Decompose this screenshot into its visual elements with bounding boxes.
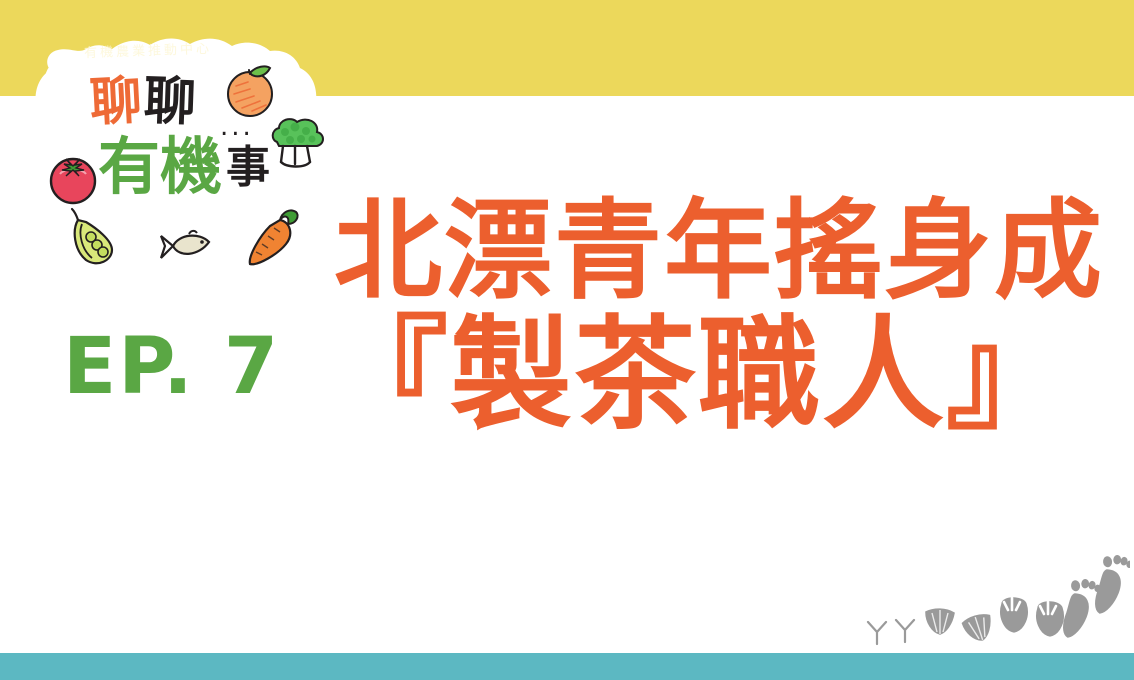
- orange-fruit-icon: [220, 58, 282, 120]
- webbed-foot-icon: [962, 612, 996, 644]
- podcast-logo: 有機農業推動中心 聊聊 ... 有機事: [20, 14, 330, 274]
- title-line-1: 北漂青年搖身成: [334, 196, 1104, 308]
- bird-track-icon: [896, 620, 914, 642]
- fish-icon: [155, 222, 217, 270]
- bird-track-icon: [868, 622, 886, 644]
- paw-print-icon: [1001, 598, 1028, 632]
- brand-char-liao-orange: 聊: [89, 75, 144, 130]
- organization-name: 有機農業推動中心: [84, 38, 213, 61]
- webbed-foot-icon: [926, 609, 954, 634]
- bottom-teal-bar: [0, 653, 1134, 680]
- brand-char-liao-black: 聊: [143, 75, 197, 129]
- tomato-icon: [46, 152, 100, 206]
- paw-print-icon: [1037, 602, 1064, 636]
- carrot-icon: [238, 204, 302, 272]
- brand-chars-youji: 有機: [98, 136, 222, 198]
- episode-number: EP. 7: [63, 322, 280, 412]
- title-line-2: 『製茶職人』: [326, 312, 1104, 439]
- episode-title: 北漂青年搖身成 『製茶職人』: [334, 196, 1104, 439]
- footprint-trail: [862, 548, 1130, 652]
- broccoli-icon: [263, 112, 329, 170]
- banner-stage: 有機農業推動中心 聊聊 ... 有機事: [0, 0, 1134, 680]
- brand-line-2: 有機事: [98, 136, 270, 198]
- brand-line-1: 聊聊: [90, 76, 196, 128]
- pea-pod-icon: [62, 206, 124, 268]
